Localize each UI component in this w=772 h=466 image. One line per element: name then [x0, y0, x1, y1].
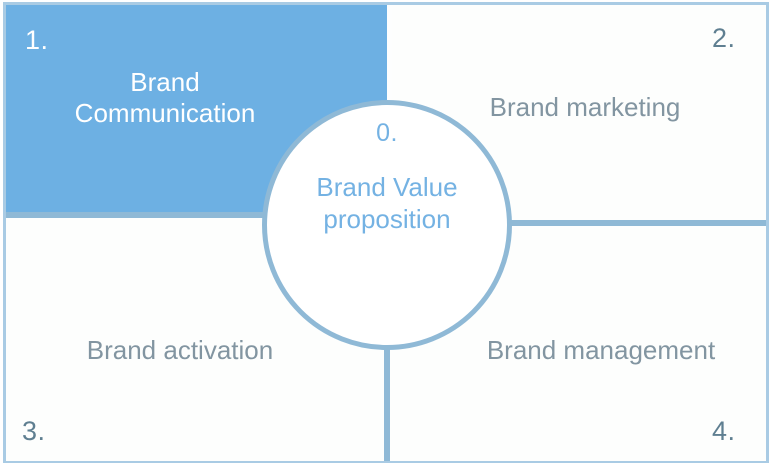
quadrant-label-brand-activation: Brand activation [20, 335, 340, 366]
divider-vertical-bottom [384, 344, 390, 461]
center-hub-label: Brand Value proposition [282, 172, 492, 235]
center-hub-brand-value-proposition[interactable]: 0. Brand Value proposition [262, 100, 512, 350]
quadrant-index-1: 1. [25, 27, 49, 54]
center-hub-index: 0. [376, 121, 398, 146]
quadrant-index-3: 3. [22, 418, 46, 445]
divider-horizontal-left [6, 212, 282, 218]
quadrant-index-2: 2. [712, 25, 736, 52]
divider-horizontal-right [505, 220, 766, 226]
quadrant-label-brand-communication: Brand Communication [20, 67, 310, 129]
quadrant-label-brand-marketing: Brand marketing [440, 92, 730, 123]
brand-value-proposition-diagram: 1. 2. 3. 4. Brand Communication Brand ma… [0, 0, 772, 466]
quadrant-label-brand-management: Brand management [450, 335, 752, 366]
quadrant-index-4: 4. [712, 418, 736, 445]
